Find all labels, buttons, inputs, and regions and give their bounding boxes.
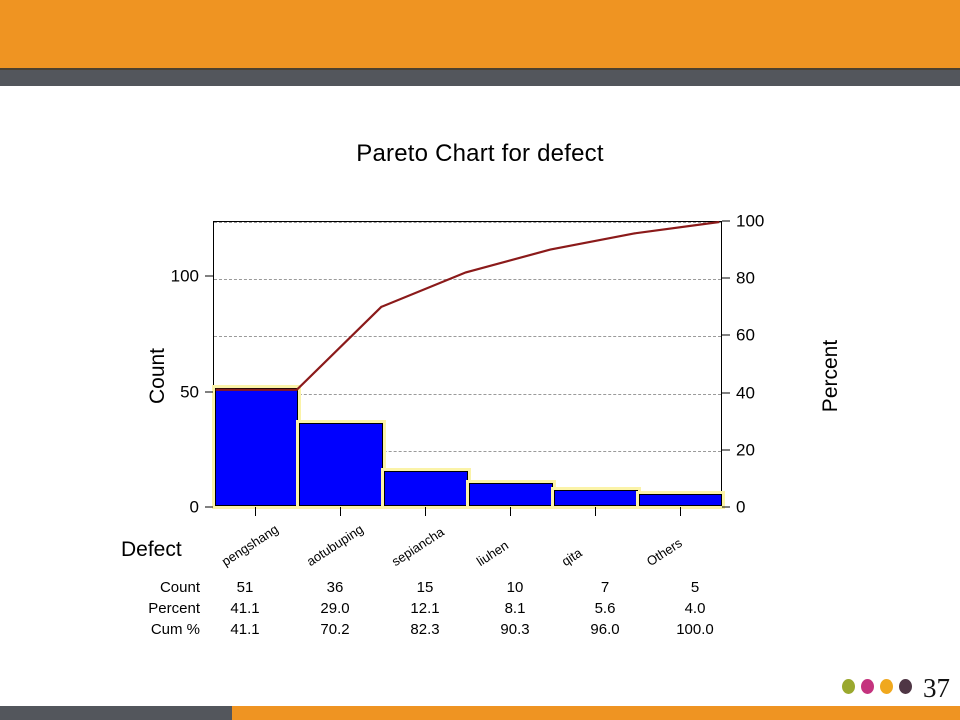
table-row-label: Cum % xyxy=(100,621,200,638)
table-row-cells: 41.129.012.18.15.64.0 xyxy=(200,600,740,617)
plot-area xyxy=(213,221,722,507)
footer-dots xyxy=(842,679,912,694)
y-axis-right-tick xyxy=(722,278,730,279)
category-label: qita xyxy=(559,545,585,569)
x-axis-tick xyxy=(595,507,596,516)
y-axis-right-tick-label: 80 xyxy=(736,270,755,287)
footer-band xyxy=(232,706,960,720)
value-table: Count5136151075Percent41.129.012.18.15.6… xyxy=(100,579,740,642)
table-cell: 10 xyxy=(470,579,560,596)
cumulative-line xyxy=(216,222,720,390)
table-row-cells: 41.170.282.390.396.0100.0 xyxy=(200,621,740,638)
table-cell: 29.0 xyxy=(290,600,380,617)
table-cell: 5 xyxy=(650,579,740,596)
y-axis-right-tick xyxy=(722,392,730,393)
table-cell: 8.1 xyxy=(470,600,560,617)
category-label: liuhen xyxy=(474,538,511,569)
y-axis-right-tick xyxy=(722,449,730,450)
table-row-label: Percent xyxy=(100,600,200,617)
pareto-chart: Pareto Chart for defect 050100 020406080… xyxy=(0,84,960,664)
table-cell: 12.1 xyxy=(380,600,470,617)
y-axis-left-tick xyxy=(205,276,213,277)
y-axis-right-tick-label: 20 xyxy=(736,441,755,458)
table-row: Cum %41.170.282.390.396.0100.0 xyxy=(100,621,740,642)
table-row: Percent41.129.012.18.15.64.0 xyxy=(100,600,740,621)
y-axis-right-tick-label: 60 xyxy=(736,327,755,344)
table-cell: 41.1 xyxy=(200,621,290,638)
table-row: Count5136151075 xyxy=(100,579,740,600)
dot-amber xyxy=(880,679,893,694)
x-axis-tick xyxy=(425,507,426,516)
dot-magenta xyxy=(861,679,874,694)
y-axis-left-tick xyxy=(205,507,213,508)
y-axis-right-tick xyxy=(722,507,730,508)
defect-heading: Defect xyxy=(121,538,182,562)
x-axis-ticks xyxy=(213,507,722,517)
table-cell: 41.1 xyxy=(200,600,290,617)
table-cell: 90.3 xyxy=(470,621,560,638)
y-axis-right-tick xyxy=(722,335,730,336)
table-cell: 15 xyxy=(380,579,470,596)
table-cell: 70.2 xyxy=(290,621,380,638)
y-axis-right-tick-label: 40 xyxy=(736,384,755,401)
footer-accent-band xyxy=(0,706,232,720)
y-axis-left-title: Count xyxy=(146,348,170,404)
y-axis-right-tick xyxy=(722,221,730,222)
table-row-label: Count xyxy=(100,579,200,596)
table-cell: 36 xyxy=(290,579,380,596)
dot-plum xyxy=(899,679,912,694)
x-axis-tick xyxy=(340,507,341,516)
table-cell: 100.0 xyxy=(650,621,740,638)
table-row-cells: 5136151075 xyxy=(200,579,740,596)
header-band xyxy=(0,0,960,68)
category-label: pengshang xyxy=(219,521,281,569)
category-label: Others xyxy=(643,535,684,569)
table-cell: 7 xyxy=(560,579,650,596)
y-axis-right-tick-label: 0 xyxy=(736,499,745,516)
chart-title: Pareto Chart for defect xyxy=(0,140,960,168)
x-axis-tick xyxy=(255,507,256,516)
y-axis-right-tick-label: 100 xyxy=(736,213,764,230)
y-axis-left-tick-label: 0 xyxy=(190,499,199,516)
y-axis-left-tick xyxy=(205,391,213,392)
x-axis-tick xyxy=(680,507,681,516)
slide: Pareto Chart for defect 050100 020406080… xyxy=(0,0,960,720)
category-label: sepiancha xyxy=(389,524,447,569)
table-cell: 51 xyxy=(200,579,290,596)
cumulative-line-layer xyxy=(214,222,721,507)
category-label: aotubuping xyxy=(304,521,366,569)
table-cell: 5.6 xyxy=(560,600,650,617)
table-cell: 82.3 xyxy=(380,621,470,638)
y-axis-left-tick-label: 100 xyxy=(171,268,199,285)
y-axis-left-tick-label: 50 xyxy=(180,383,199,400)
y-axis-right-title: Percent xyxy=(819,340,843,412)
category-labels: pengshangaotubupingsepianchaliuhenqitaOt… xyxy=(213,520,722,570)
x-axis-tick xyxy=(510,507,511,516)
table-cell: 4.0 xyxy=(650,600,740,617)
table-cell: 96.0 xyxy=(560,621,650,638)
dot-olive xyxy=(842,679,855,694)
page-number: 37 xyxy=(923,675,950,702)
